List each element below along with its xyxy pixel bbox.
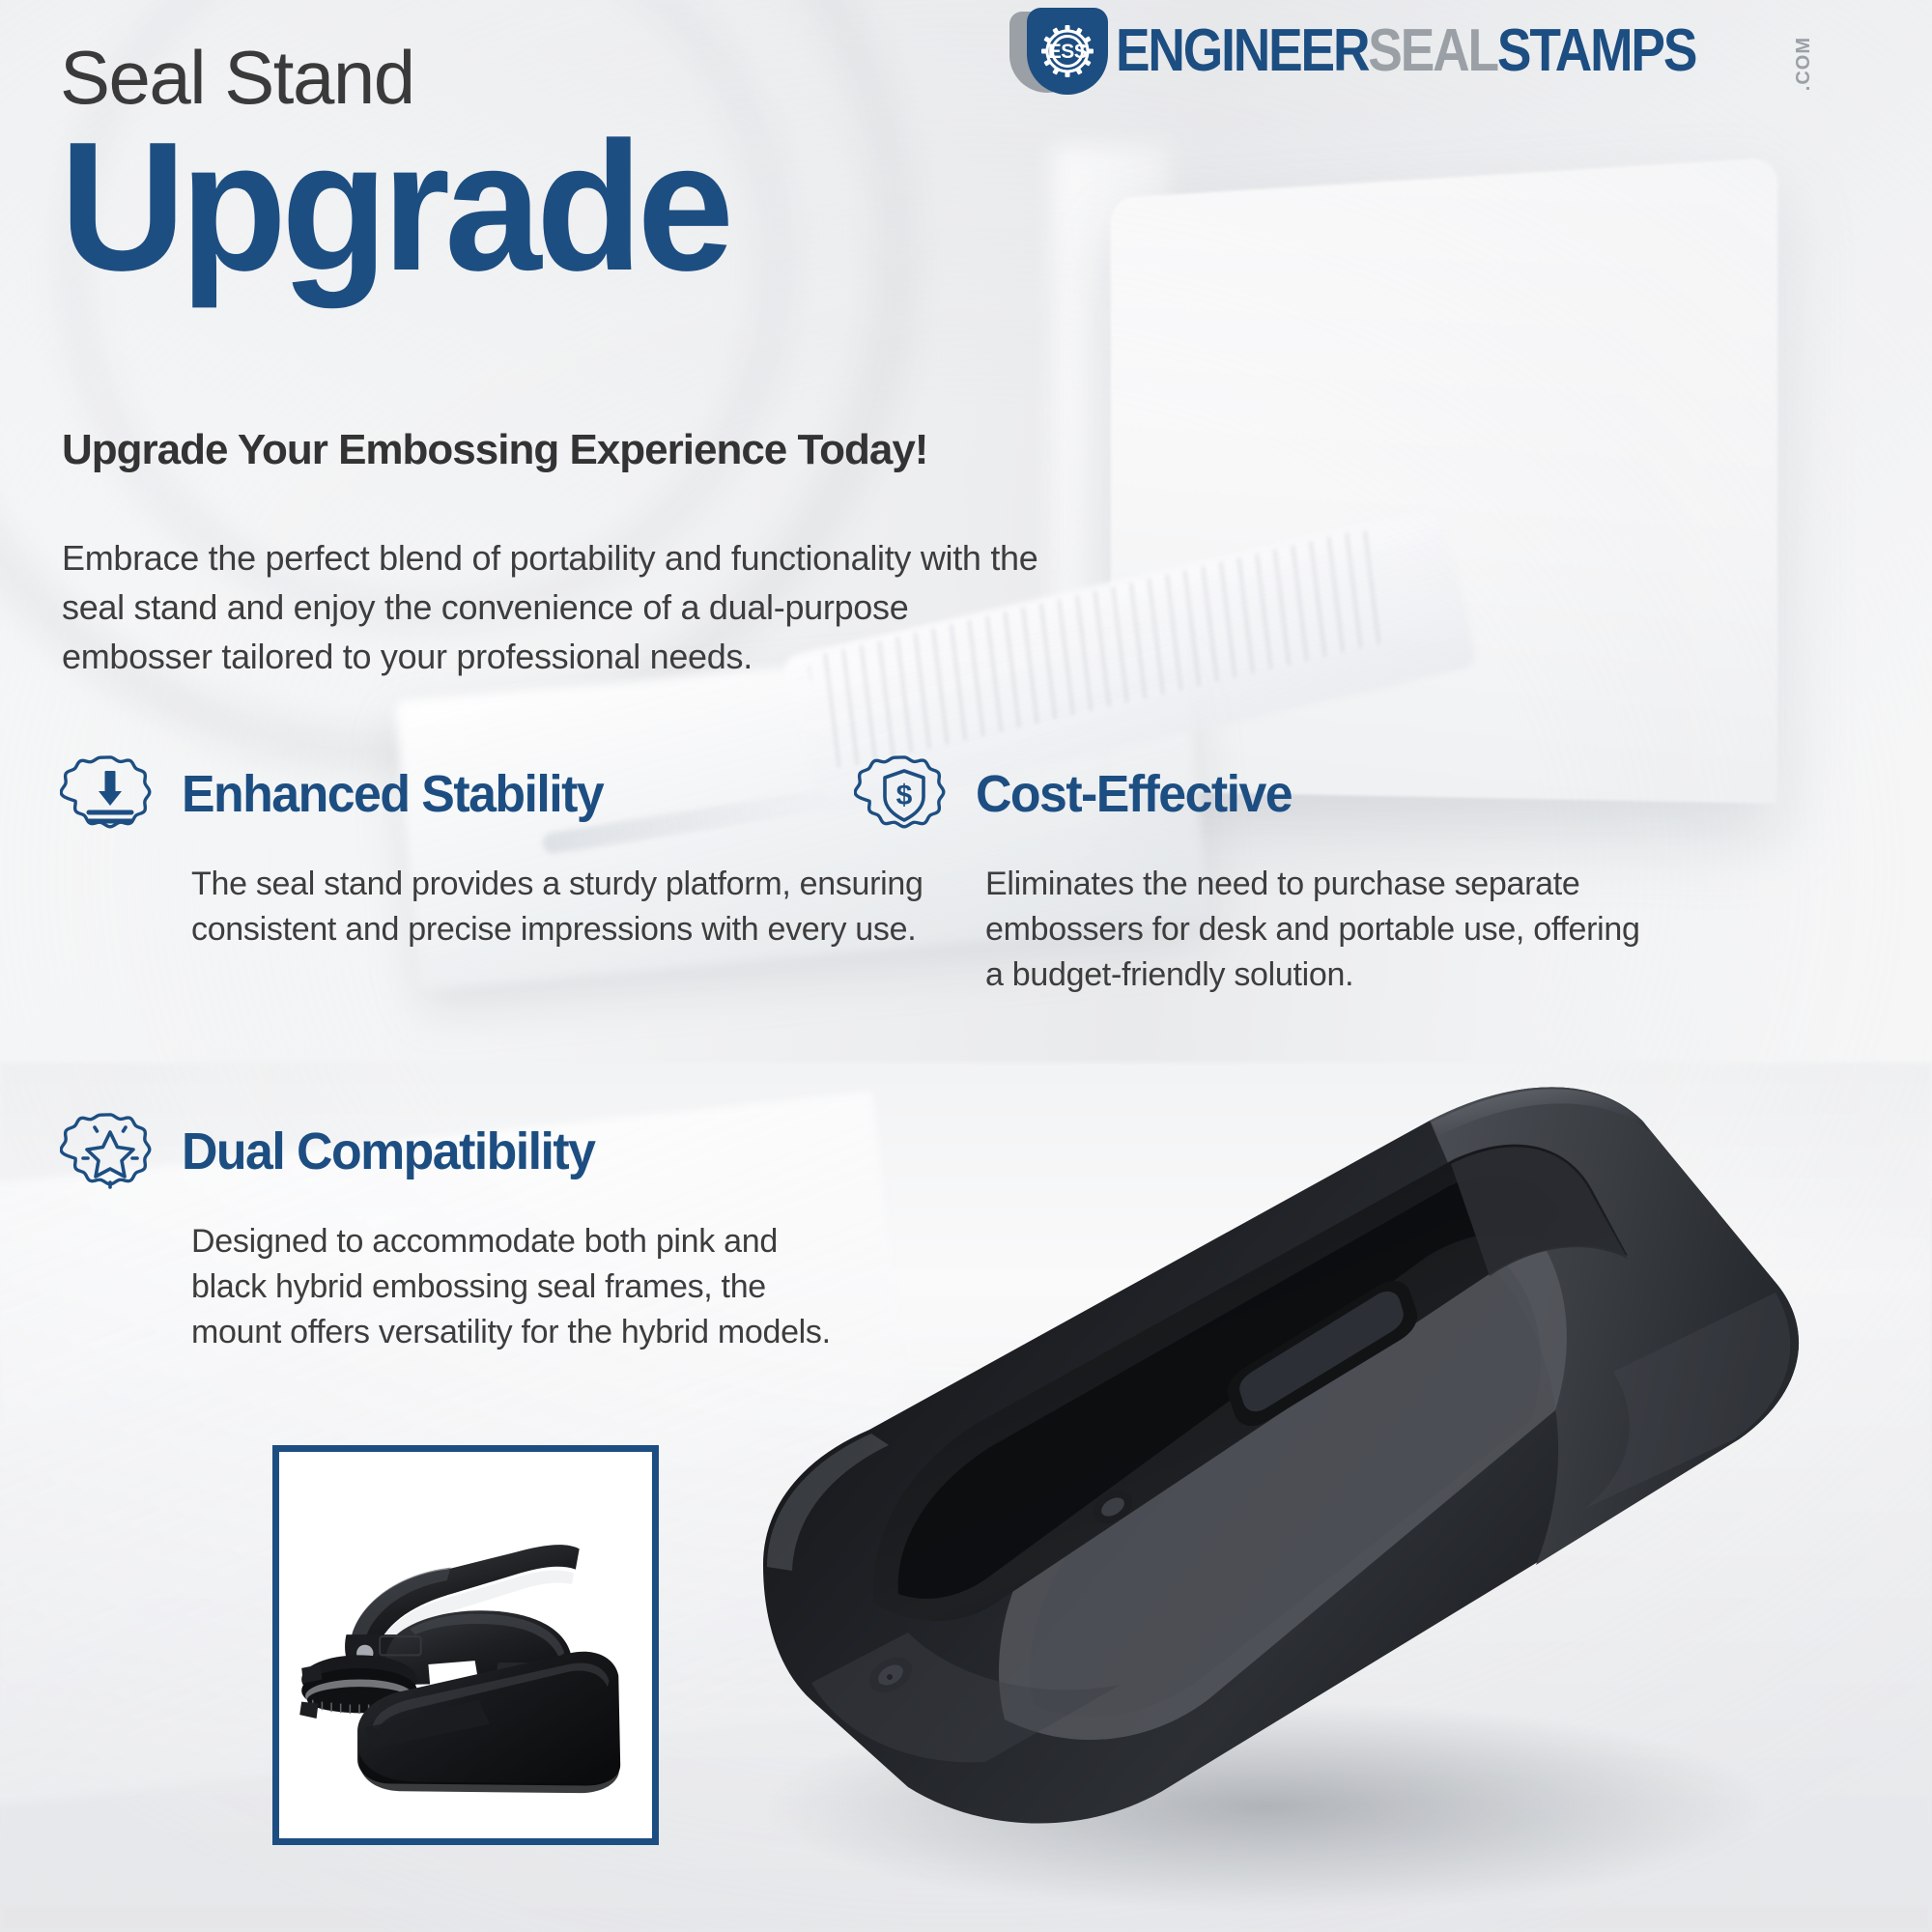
feature-title: Cost-Effective (976, 768, 1292, 820)
inset-product-image-frame (272, 1445, 659, 1845)
logo-word-engineer: ENGINEER (1116, 21, 1368, 81)
shield-dollar-badge-icon: $ (854, 744, 954, 844)
star-sparkle-badge-icon (60, 1101, 160, 1202)
feature-title: Dual Compatibility (182, 1125, 594, 1178)
feature-header: Enhanced Stability (60, 744, 910, 844)
subheading: Upgrade Your Embossing Experience Today! (62, 425, 1221, 476)
logo-tld: .COM (1794, 37, 1813, 91)
brand-logo: ESS ENGINEER SEAL STAMPS .COM (1009, 8, 1922, 95)
press-down-badge-icon (60, 744, 160, 844)
gear-icon: ESS (1035, 18, 1100, 84)
logo-shield-navy: ESS (1027, 8, 1108, 95)
logo-word-seal: SEAL (1368, 21, 1497, 81)
logo-mark-text: ESS (1035, 18, 1100, 84)
inset-product-image (279, 1452, 652, 1838)
feature-title: Enhanced Stability (182, 768, 603, 820)
headline-block: Seal Stand Upgrade (60, 39, 1026, 294)
logo-word-stamps: STAMPS (1497, 21, 1695, 81)
svg-text:$: $ (896, 780, 913, 811)
feature-header: $ Cost-Effective (854, 744, 1888, 844)
page-title: Upgrade (60, 120, 978, 295)
main-product-image (667, 831, 1922, 1932)
logo-wordmark: ENGINEER SEAL STAMPS (1116, 21, 1695, 81)
intro-paragraph: Embrace the perfect blend of portability… (62, 533, 1066, 681)
